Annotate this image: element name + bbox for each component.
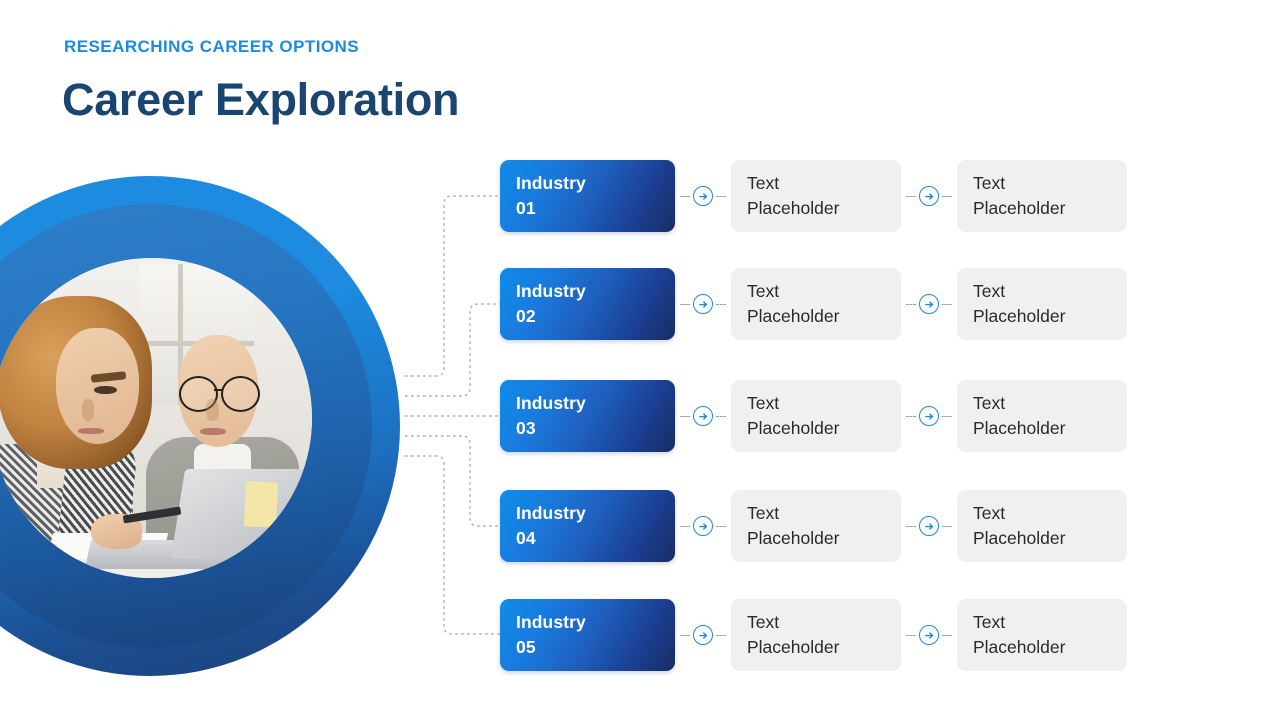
placeholder-line-2: Placeholder xyxy=(973,304,1127,329)
industry-card-label: Industry xyxy=(516,279,675,304)
arrow-right-circle-icon[interactable] xyxy=(693,406,713,426)
industry-card-number: 04 xyxy=(516,526,675,551)
process-row-1: Industry 01 Text Placeholder Text Placeh… xyxy=(500,160,1127,232)
arrow-right-circle-icon[interactable] xyxy=(693,625,713,645)
dash-segment xyxy=(680,416,690,417)
placeholder-card-3c[interactable]: Text Placeholder xyxy=(957,380,1127,452)
placeholder-line-1: Text xyxy=(747,391,901,416)
connector-3a xyxy=(675,406,731,426)
dash-segment xyxy=(716,196,726,197)
placeholder-line-1: Text xyxy=(747,171,901,196)
circular-photo-graphic xyxy=(0,176,400,676)
industry-card-number: 01 xyxy=(516,196,675,221)
slide-eyebrow: RESEARCHING CAREER OPTIONS xyxy=(64,37,359,57)
arrow-right-circle-icon[interactable] xyxy=(693,294,713,314)
industry-card-label: Industry xyxy=(516,610,675,635)
arrow-right-circle-icon[interactable] xyxy=(693,516,713,536)
placeholder-line-2: Placeholder xyxy=(973,196,1127,221)
industry-card-label: Industry xyxy=(516,391,675,416)
connector-1b xyxy=(901,186,957,206)
dash-segment xyxy=(906,196,916,197)
dash-segment xyxy=(906,526,916,527)
industry-card-2[interactable]: Industry 02 xyxy=(500,268,675,340)
dash-segment xyxy=(906,416,916,417)
dash-segment xyxy=(680,526,690,527)
arrow-right-circle-icon[interactable] xyxy=(919,294,939,314)
connector-row-1 xyxy=(405,196,500,376)
industry-card-number: 03 xyxy=(516,416,675,441)
connector-5b xyxy=(901,625,957,645)
industry-card-1[interactable]: Industry 01 xyxy=(500,160,675,232)
placeholder-line-2: Placeholder xyxy=(973,526,1127,551)
connector-1a xyxy=(675,186,731,206)
placeholder-card-4b[interactable]: Text Placeholder xyxy=(731,490,901,562)
connector-row-4 xyxy=(405,436,500,526)
placeholder-line-1: Text xyxy=(747,501,901,526)
placeholder-line-1: Text xyxy=(747,279,901,304)
industry-card-label: Industry xyxy=(516,501,675,526)
placeholder-line-1: Text xyxy=(973,279,1127,304)
avatar xyxy=(0,258,312,578)
placeholder-card-2b[interactable]: Text Placeholder xyxy=(731,268,901,340)
placeholder-line-2: Placeholder xyxy=(747,304,901,329)
placeholder-line-2: Placeholder xyxy=(973,416,1127,441)
dash-segment xyxy=(680,196,690,197)
placeholder-line-1: Text xyxy=(973,171,1127,196)
placeholder-line-2: Placeholder xyxy=(973,635,1127,660)
industry-card-5[interactable]: Industry 05 xyxy=(500,599,675,671)
dash-segment xyxy=(716,304,726,305)
dash-segment xyxy=(716,635,726,636)
page-title: Career Exploration xyxy=(62,74,459,126)
placeholder-line-1: Text xyxy=(973,391,1127,416)
connector-5a xyxy=(675,625,731,645)
placeholder-card-4c[interactable]: Text Placeholder xyxy=(957,490,1127,562)
industry-card-4[interactable]: Industry 04 xyxy=(500,490,675,562)
connector-4b xyxy=(901,516,957,536)
dash-segment xyxy=(942,304,952,305)
placeholder-card-1c[interactable]: Text Placeholder xyxy=(957,160,1127,232)
placeholder-line-2: Placeholder xyxy=(747,196,901,221)
process-row-5: Industry 05 Text Placeholder Text Placeh… xyxy=(500,599,1127,671)
industry-card-label: Industry xyxy=(516,171,675,196)
process-row-4: Industry 04 Text Placeholder Text Placeh… xyxy=(500,490,1127,562)
dash-segment xyxy=(906,635,916,636)
placeholder-line-1: Text xyxy=(973,610,1127,635)
dash-segment xyxy=(942,526,952,527)
connector-2b xyxy=(901,294,957,314)
connector-3b xyxy=(901,406,957,426)
placeholder-card-5c[interactable]: Text Placeholder xyxy=(957,599,1127,671)
connector-4a xyxy=(675,516,731,536)
dash-segment xyxy=(942,416,952,417)
industry-card-number: 05 xyxy=(516,635,675,660)
arrow-right-circle-icon[interactable] xyxy=(919,406,939,426)
dash-segment xyxy=(716,526,726,527)
placeholder-line-2: Placeholder xyxy=(747,526,901,551)
arrow-right-circle-icon[interactable] xyxy=(919,516,939,536)
dash-segment xyxy=(716,416,726,417)
slide-canvas: RESEARCHING CAREER OPTIONS Career Explor… xyxy=(0,0,1280,720)
placeholder-card-2c[interactable]: Text Placeholder xyxy=(957,268,1127,340)
industry-card-3[interactable]: Industry 03 xyxy=(500,380,675,452)
placeholder-card-3b[interactable]: Text Placeholder xyxy=(731,380,901,452)
placeholder-line-2: Placeholder xyxy=(747,416,901,441)
arrow-right-circle-icon[interactable] xyxy=(693,186,713,206)
arrow-right-circle-icon[interactable] xyxy=(919,625,939,645)
dash-segment xyxy=(942,635,952,636)
connector-2a xyxy=(675,294,731,314)
process-row-3: Industry 03 Text Placeholder Text Placeh… xyxy=(500,380,1127,452)
placeholder-line-2: Placeholder xyxy=(747,635,901,660)
connector-row-5 xyxy=(405,456,500,634)
placeholder-card-1b[interactable]: Text Placeholder xyxy=(731,160,901,232)
placeholder-line-1: Text xyxy=(747,610,901,635)
dash-segment xyxy=(680,635,690,636)
dash-segment xyxy=(942,196,952,197)
connector-row-2 xyxy=(405,304,500,396)
placeholder-line-1: Text xyxy=(973,501,1127,526)
dash-segment xyxy=(680,304,690,305)
placeholder-card-5b[interactable]: Text Placeholder xyxy=(731,599,901,671)
arrow-right-circle-icon[interactable] xyxy=(919,186,939,206)
dash-segment xyxy=(906,304,916,305)
process-row-2: Industry 02 Text Placeholder Text Placeh… xyxy=(500,268,1127,340)
industry-card-number: 02 xyxy=(516,304,675,329)
